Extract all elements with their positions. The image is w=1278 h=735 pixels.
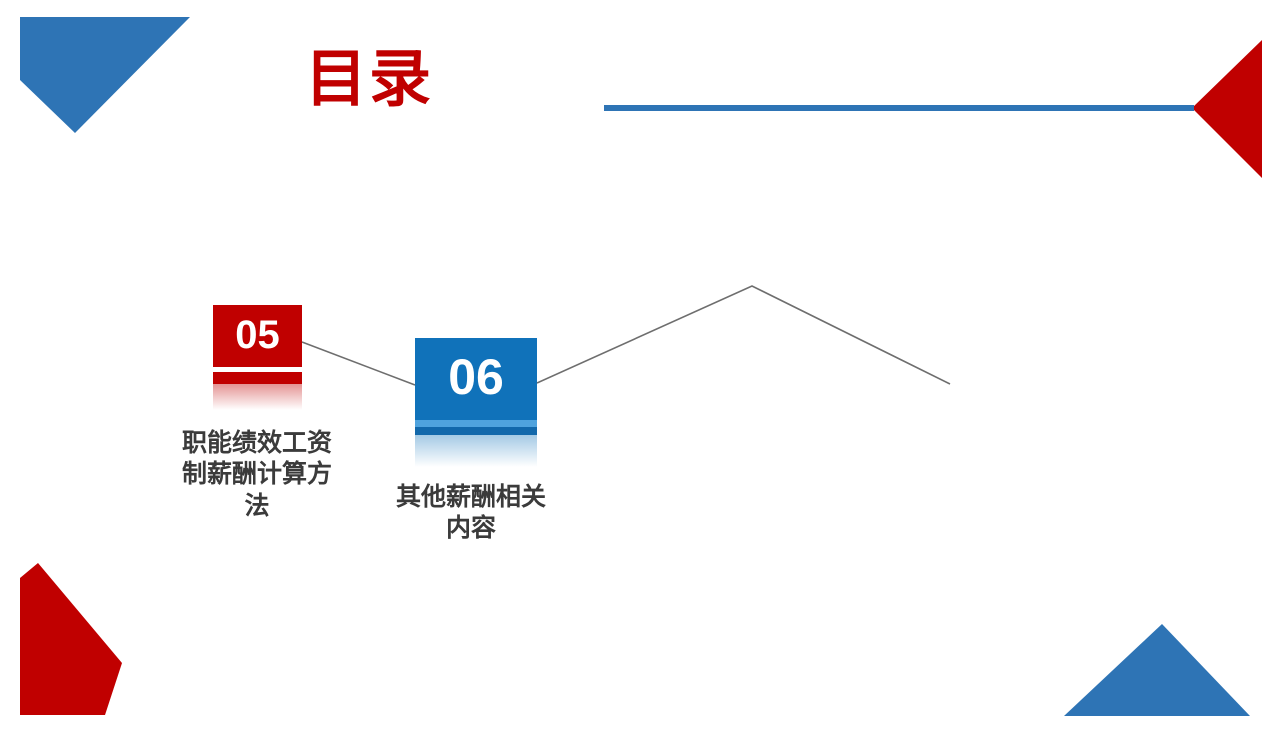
bottom-left-red-shape [20, 563, 122, 715]
top-right-red-arrow-icon [1192, 40, 1262, 178]
agenda-chip-reflection-05 [213, 384, 302, 410]
agenda-chip-foot-06 [415, 427, 537, 435]
agenda-chip-foot-05 [213, 372, 302, 384]
bottom-right-blue-triangle [1064, 624, 1250, 716]
header-rule [604, 105, 1194, 111]
agenda-chip-reflection-06 [415, 435, 537, 467]
connector-line-05-to-06 [302, 342, 415, 385]
connector-line-06-to-right [537, 286, 950, 384]
agenda-caption-05: 职能绩效工资 制薪酬计算方 法 [148, 428, 366, 522]
agenda-chip-rule-06 [415, 420, 537, 427]
agenda-caption-06: 其他薪酬相关 内容 [378, 482, 564, 545]
page-title: 目录 [305, 47, 433, 112]
slide-canvas: 目录 05 职能绩效工资 制薪酬计算方 法 06 其他薪酬相关 内容 [0, 0, 1278, 735]
agenda-number-05: 05 [213, 305, 302, 367]
agenda-item-05[interactable]: 05 [213, 305, 302, 410]
agenda-item-06[interactable]: 06 [415, 338, 537, 467]
agenda-number-06: 06 [415, 338, 537, 420]
top-left-blue-shape [20, 17, 190, 133]
